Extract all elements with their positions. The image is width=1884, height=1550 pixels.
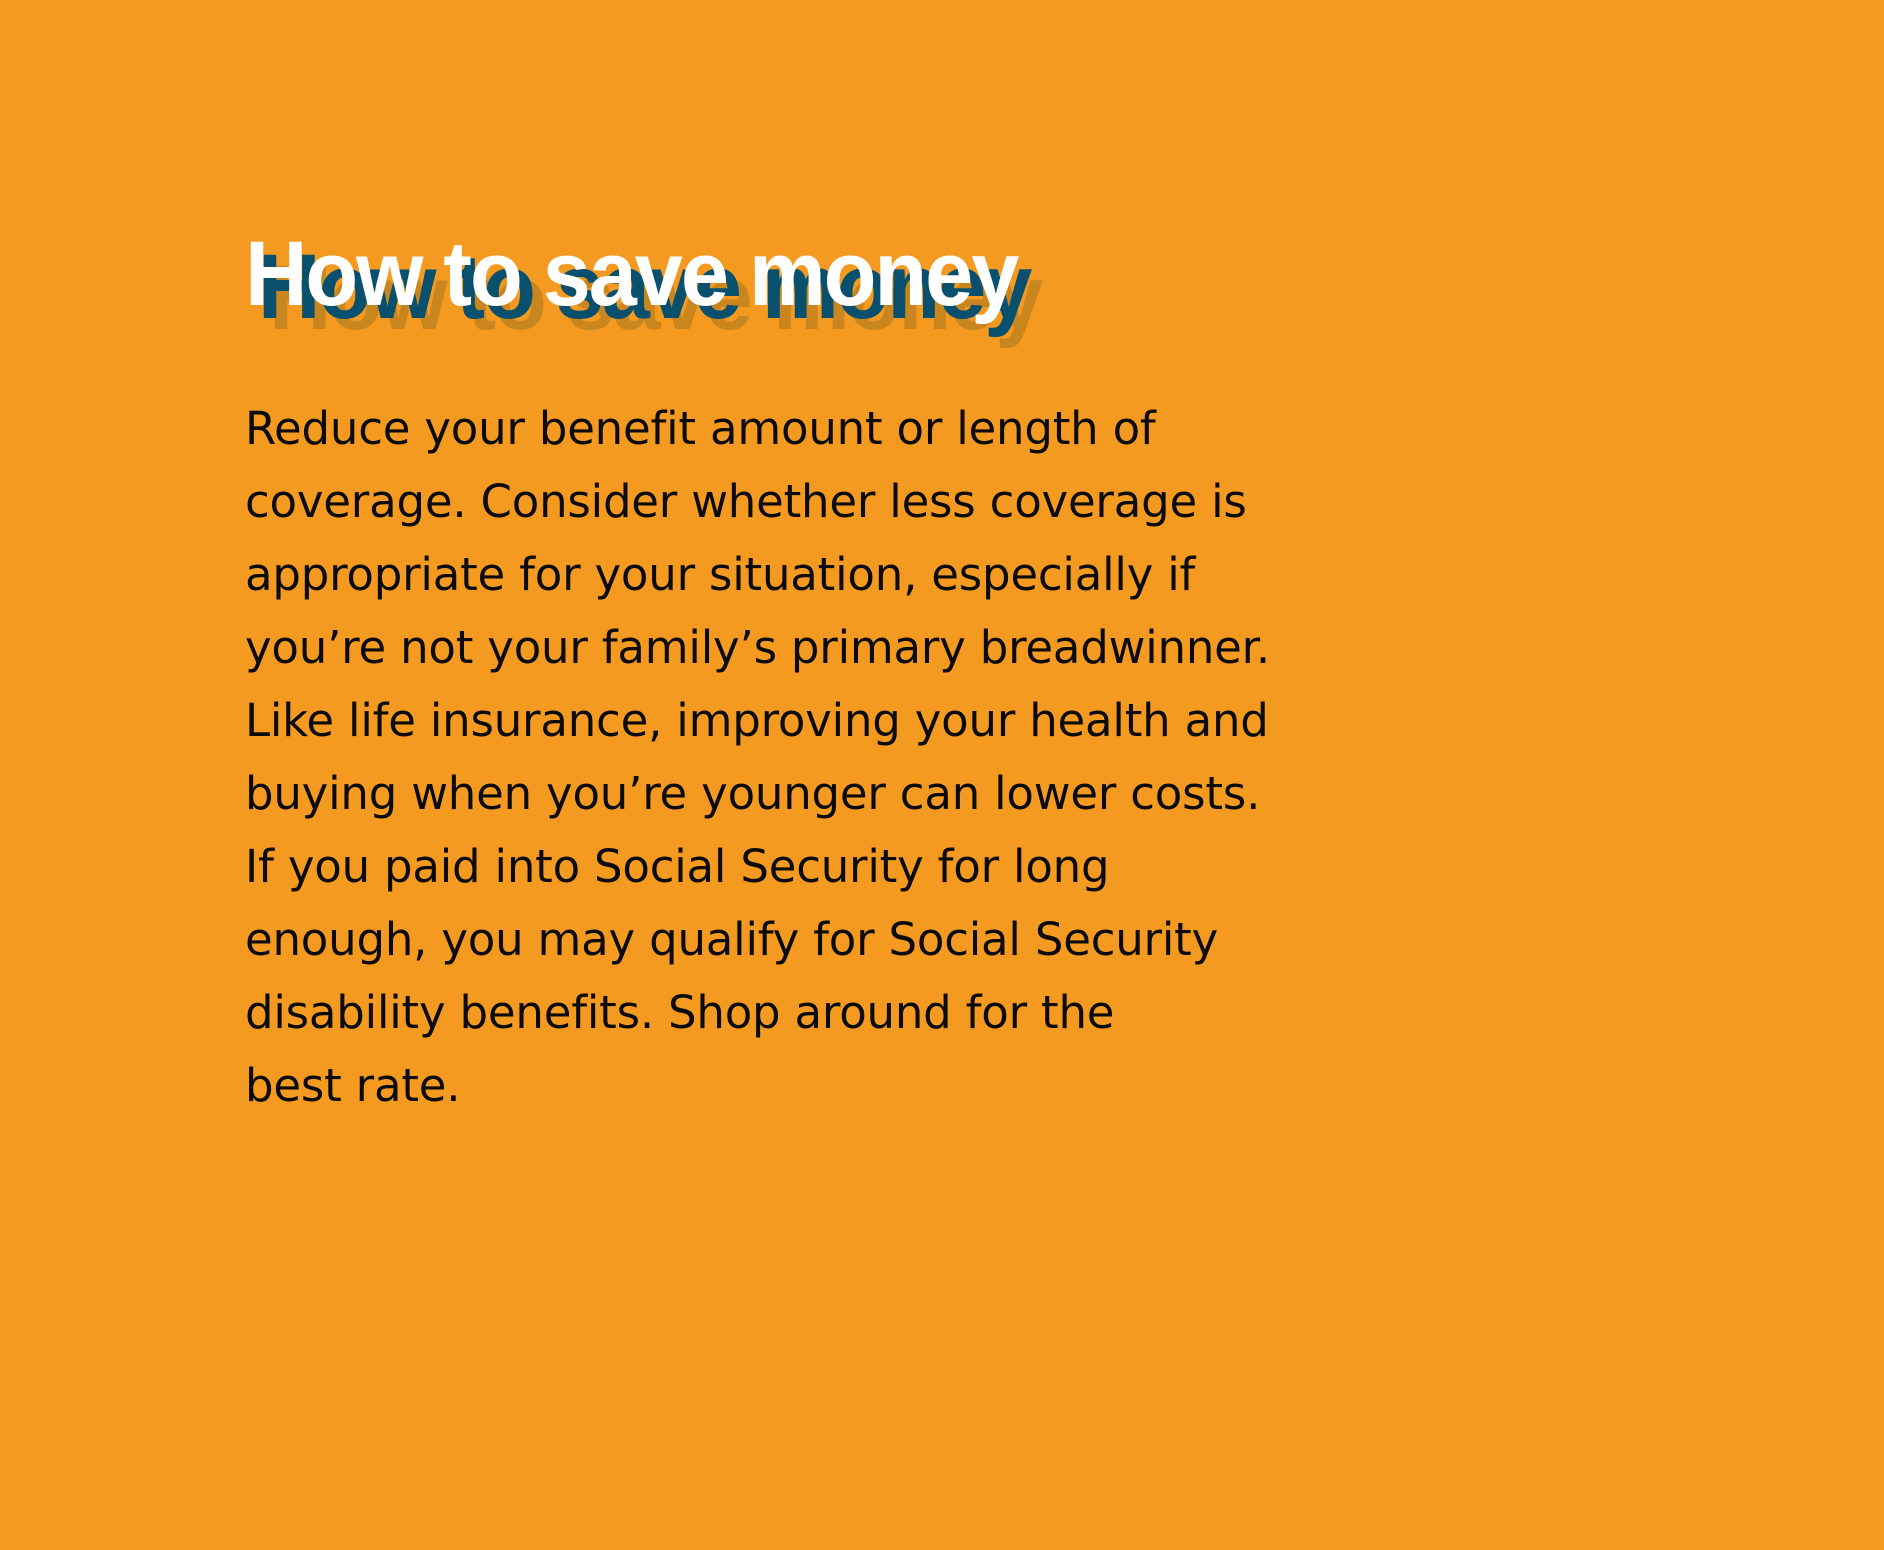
- body-line: Reduce your benefit amount or length of: [245, 392, 1335, 465]
- card-body-text: Reduce your benefit amount or length of …: [245, 392, 1335, 1122]
- body-line: If you paid into Social Security for lon…: [245, 830, 1335, 903]
- card-content: How to save money How to save money How …: [245, 222, 1665, 1122]
- body-line: buying when you’re younger can lower cos…: [245, 757, 1335, 830]
- body-line: you’re not your family’s primary breadwi…: [245, 611, 1335, 684]
- card-heading-block: How to save money How to save money How …: [245, 222, 1665, 350]
- body-line: disability benefits. Shop around for the: [245, 976, 1335, 1049]
- info-card: How to save money How to save money How …: [0, 0, 1884, 1550]
- body-line: appropriate for your situation, especial…: [245, 538, 1335, 611]
- body-line: enough, you may qualify for Social Secur…: [245, 903, 1335, 976]
- body-line: coverage. Consider whether less coverage…: [245, 465, 1335, 538]
- page-title: How to save money: [245, 222, 1017, 326]
- body-line: best rate.: [245, 1049, 1335, 1122]
- body-line: Like life insurance, improving your heal…: [245, 684, 1335, 757]
